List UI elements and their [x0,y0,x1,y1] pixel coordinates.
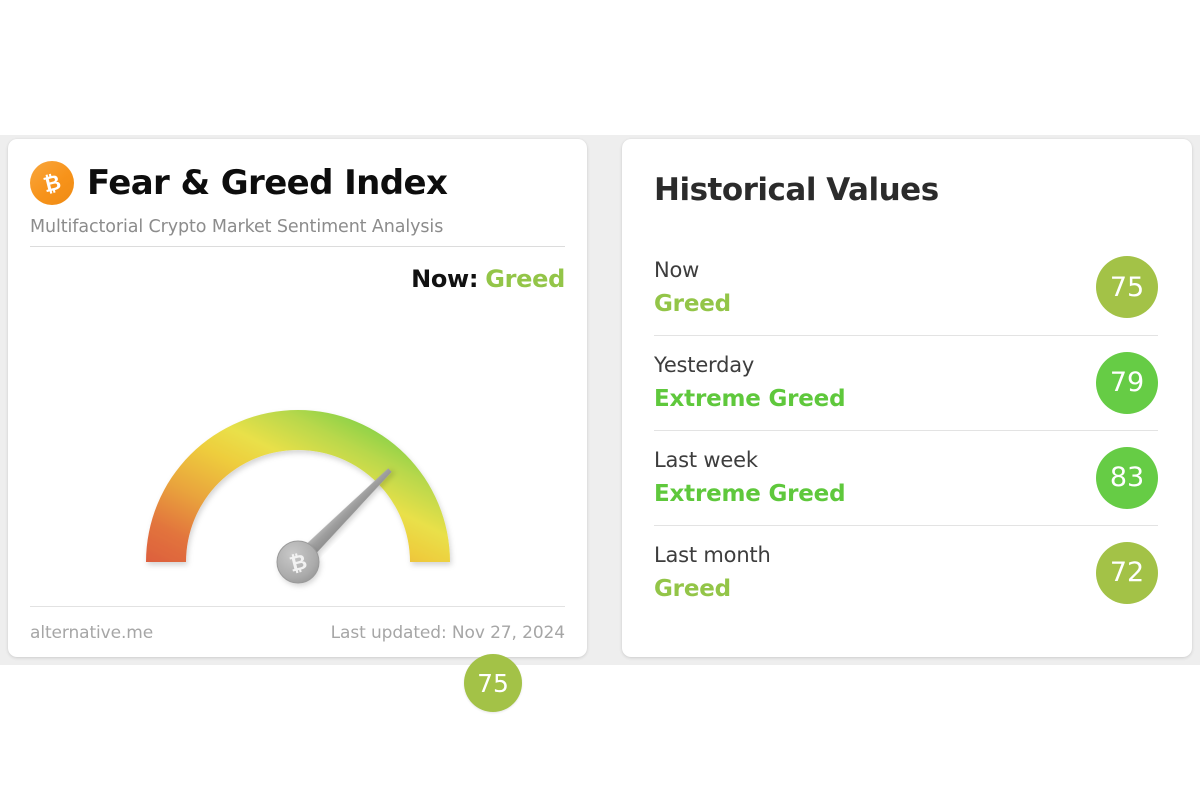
row-value-badge: 75 [1096,256,1158,318]
row-text: Last month Greed [654,543,771,602]
row-period: Last week [654,448,845,472]
gauge-container: ₿ 75 [30,297,565,587]
row-period: Last month [654,543,771,567]
row-classification: Extreme Greed [654,481,845,507]
gauge-card-header: ₿ Fear & Greed Index [30,161,565,205]
row-classification: Greed [654,291,731,317]
list-item[interactable]: Yesterday Extreme Greed 79 [654,335,1158,430]
header-divider [30,246,565,247]
list-item[interactable]: Now Greed 75 [654,240,1158,335]
gauge-card-footer: alternative.me Last updated: Nov 27, 202… [30,623,565,643]
row-period: Now [654,258,731,282]
bitcoin-icon: ₿ [30,161,74,205]
svg-text:₿: ₿ [41,170,63,197]
row-value-badge: 83 [1096,447,1158,509]
page-title: Fear & Greed Index [87,166,447,200]
historical-values-list: Now Greed 75 Yesterday Extreme Greed 79 … [654,240,1158,620]
row-text: Now Greed [654,258,731,317]
now-classification: Greed [485,265,565,293]
row-value-badge: 79 [1096,352,1158,414]
row-text: Last week Extreme Greed [654,448,845,507]
historical-values-title: Historical Values [654,175,1158,206]
source-label[interactable]: alternative.me [30,623,153,643]
bitcoin-hub-icon: ₿ [277,541,319,583]
row-classification: Greed [654,576,771,602]
row-classification: Extreme Greed [654,386,845,412]
fear-greed-gauge: ₿ [88,297,508,597]
gauge-card-subtitle: Multifactorial Crypto Market Sentiment A… [30,217,565,237]
now-status: Now:Greed [30,265,565,293]
page-root: ₿ Fear & Greed Index Multifactorial Cryp… [0,0,1200,800]
footer-divider [30,606,565,607]
list-item[interactable]: Last month Greed 72 [654,525,1158,620]
list-item[interactable]: Last week Extreme Greed 83 [654,430,1158,525]
now-label: Now: [411,265,478,293]
historical-values-card: Historical Values Now Greed 75 Yesterday… [622,139,1192,657]
fear-greed-gauge-card: ₿ Fear & Greed Index Multifactorial Cryp… [8,139,587,657]
gauge-value-badge: 75 [464,654,522,712]
last-updated-label: Last updated: Nov 27, 2024 [331,623,565,643]
row-period: Yesterday [654,353,845,377]
row-value-badge: 72 [1096,542,1158,604]
row-text: Yesterday Extreme Greed [654,353,845,412]
gauge-arc [146,410,450,562]
